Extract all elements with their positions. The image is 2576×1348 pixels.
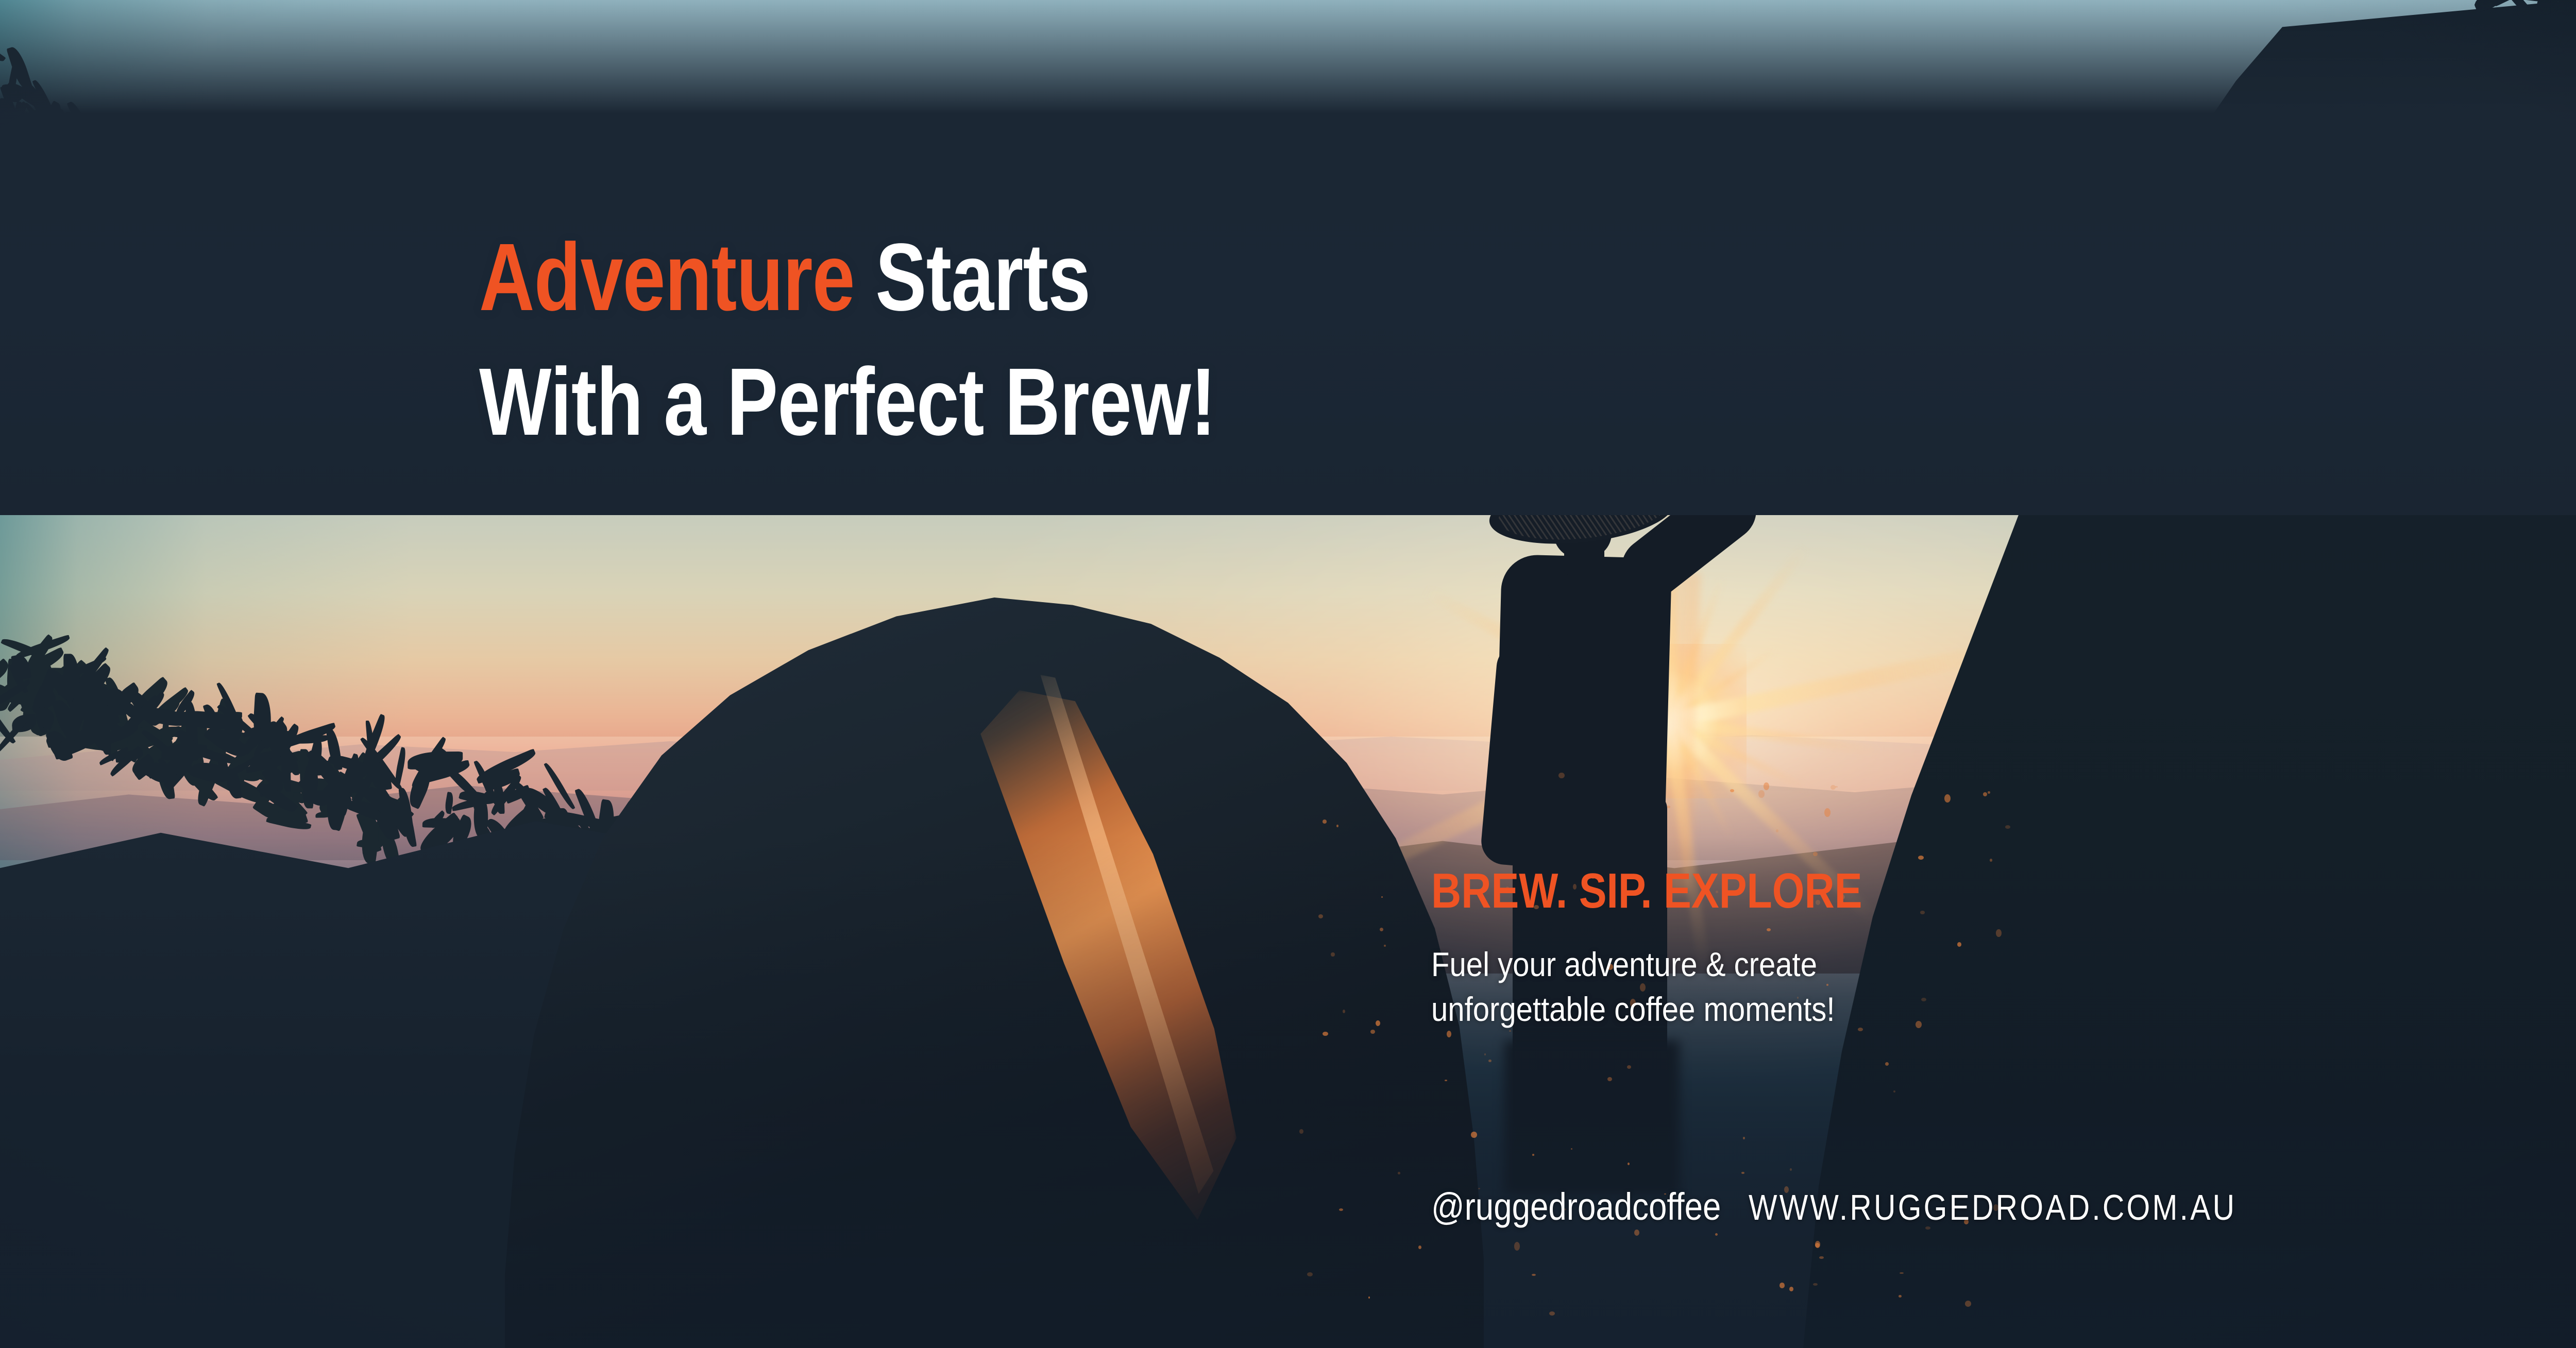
- tent-body: [505, 598, 1484, 1348]
- hiker-silhouette: [1412, 402, 1834, 1174]
- promo-body-line-1: Fuel your adventure & create: [1431, 942, 2293, 987]
- headline-block: Adventure Starts With a Perfect Brew!: [479, 215, 1561, 465]
- headline-accent-word: Adventure: [479, 224, 855, 331]
- promo-banner: Adventure Starts With a Perfect Brew! BR…: [0, 0, 2576, 1348]
- promo-body-line-2: unforgettable coffee moments!: [1431, 987, 2293, 1032]
- hiker-lower-shadow: [1504, 1040, 1680, 1195]
- right-forest-leaf-edge: [1803, 0, 2576, 464]
- headline-line-1: Adventure Starts: [479, 215, 1345, 340]
- headline-line-2: With a Perfect Brew!: [479, 340, 1345, 465]
- promo-block: BREW. SIP. EXPLORE Fuel your adventure &…: [1431, 865, 2410, 1032]
- footer-block: @ruggedroadcoffee WWW.RUGGEDROAD.COM.AU: [1431, 1185, 2330, 1228]
- social-handle[interactable]: @ruggedroadcoffee: [1431, 1185, 1721, 1228]
- headline-line-1-rest: Starts: [855, 224, 1091, 331]
- website-url[interactable]: WWW.RUGGEDROAD.COM.AU: [1749, 1187, 2236, 1228]
- promo-body: Fuel your adventure & create unforgettab…: [1431, 942, 2293, 1032]
- promo-tagline: BREW. SIP. EXPLORE: [1431, 865, 2253, 917]
- dome-tent: [505, 598, 1484, 1348]
- left-tree-branch: [0, 67, 222, 355]
